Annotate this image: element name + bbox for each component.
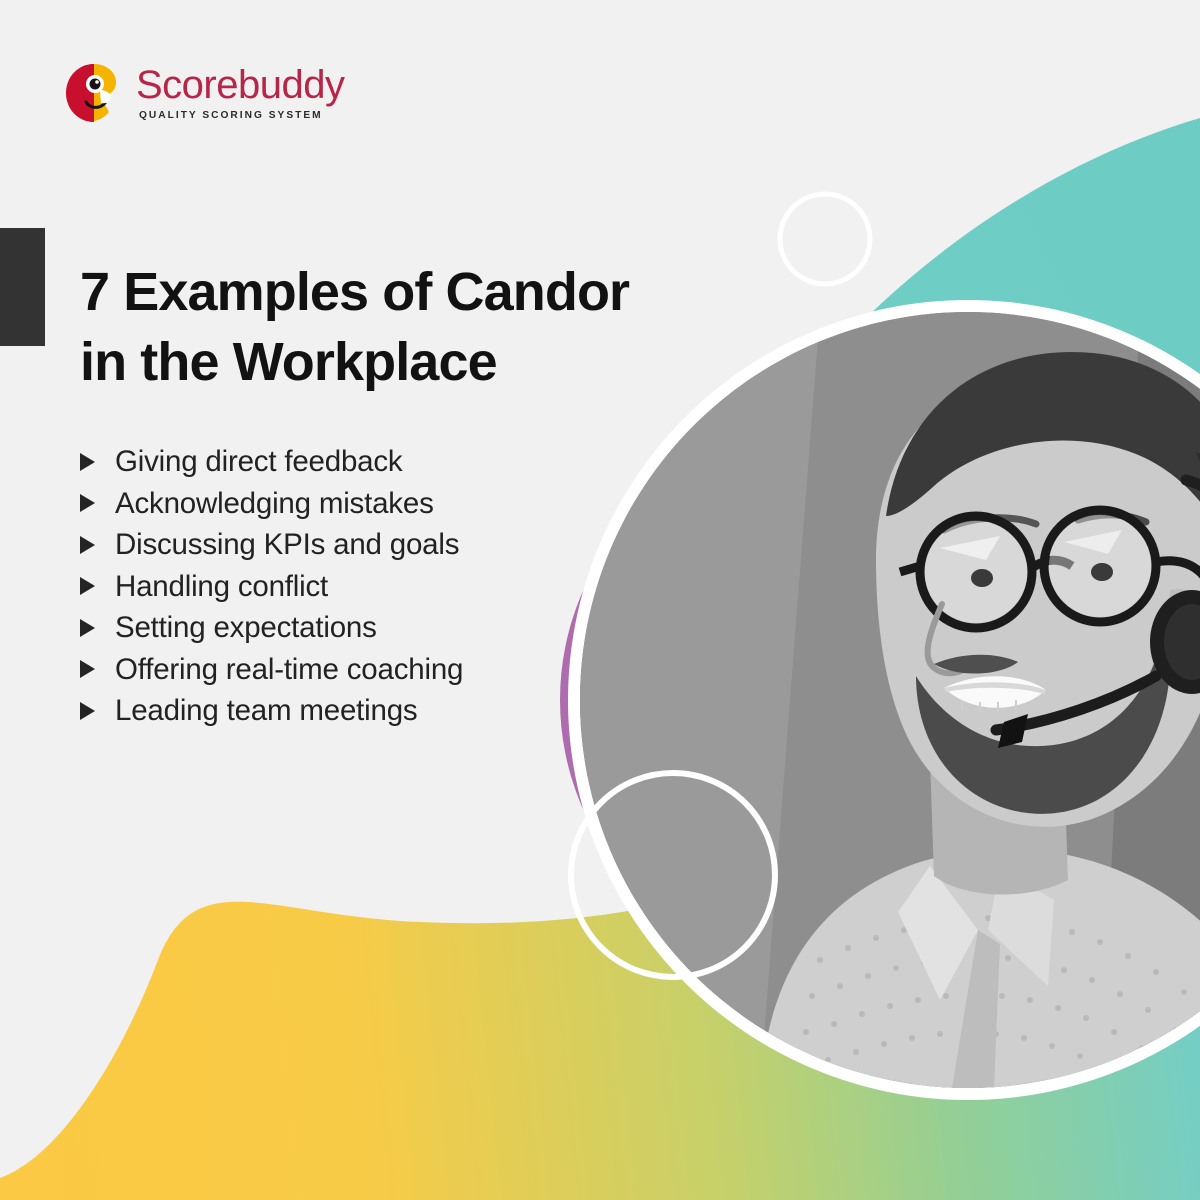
list-item-label: Leading team meetings <box>115 696 417 726</box>
brand-name: Scorebuddy <box>136 65 344 105</box>
list-item-label: Giving direct feedback <box>115 447 402 477</box>
list-item-label: Offering real-time coaching <box>115 655 463 685</box>
brand-logo[interactable]: Scorebuddy QUALITY SCORING SYSTEM <box>64 62 344 124</box>
list-item-label: Handling conflict <box>115 572 328 602</box>
list-item: Leading team meetings <box>80 690 463 732</box>
triangle-right-icon <box>80 577 95 595</box>
list-item-label: Acknowledging mistakes <box>115 489 434 519</box>
brand-tagline: QUALITY SCORING SYSTEM <box>139 110 344 121</box>
triangle-right-icon <box>80 494 95 512</box>
triangle-right-icon <box>80 619 95 637</box>
list-item: Acknowledging mistakes <box>80 483 463 525</box>
list-item: Offering real-time coaching <box>80 649 463 691</box>
list-item-label: Setting expectations <box>115 613 377 643</box>
parrot-icon <box>64 62 124 124</box>
list-item: Discussing KPIs and goals <box>80 524 463 566</box>
list-item: Giving direct feedback <box>80 441 463 483</box>
title-line-2: in the Workplace <box>80 328 720 398</box>
triangle-right-icon <box>80 453 95 471</box>
page-title: 7 Examples of Candor in the Workplace <box>80 258 720 397</box>
circle-outline-top <box>780 194 870 284</box>
list-item-label: Discussing KPIs and goals <box>115 530 459 560</box>
triangle-right-icon <box>80 660 95 678</box>
triangle-right-icon <box>80 702 95 720</box>
triangle-right-icon <box>80 536 95 554</box>
title-accent-bar <box>0 228 45 346</box>
title-line-1: 7 Examples of Candor <box>80 258 720 328</box>
examples-list: Giving direct feedback Acknowledging mis… <box>80 441 463 732</box>
list-item: Handling conflict <box>80 566 463 608</box>
social-graphic-canvas: Scorebuddy QUALITY SCORING SYSTEM 7 Exam… <box>0 0 1200 1200</box>
list-item: Setting expectations <box>80 607 463 649</box>
